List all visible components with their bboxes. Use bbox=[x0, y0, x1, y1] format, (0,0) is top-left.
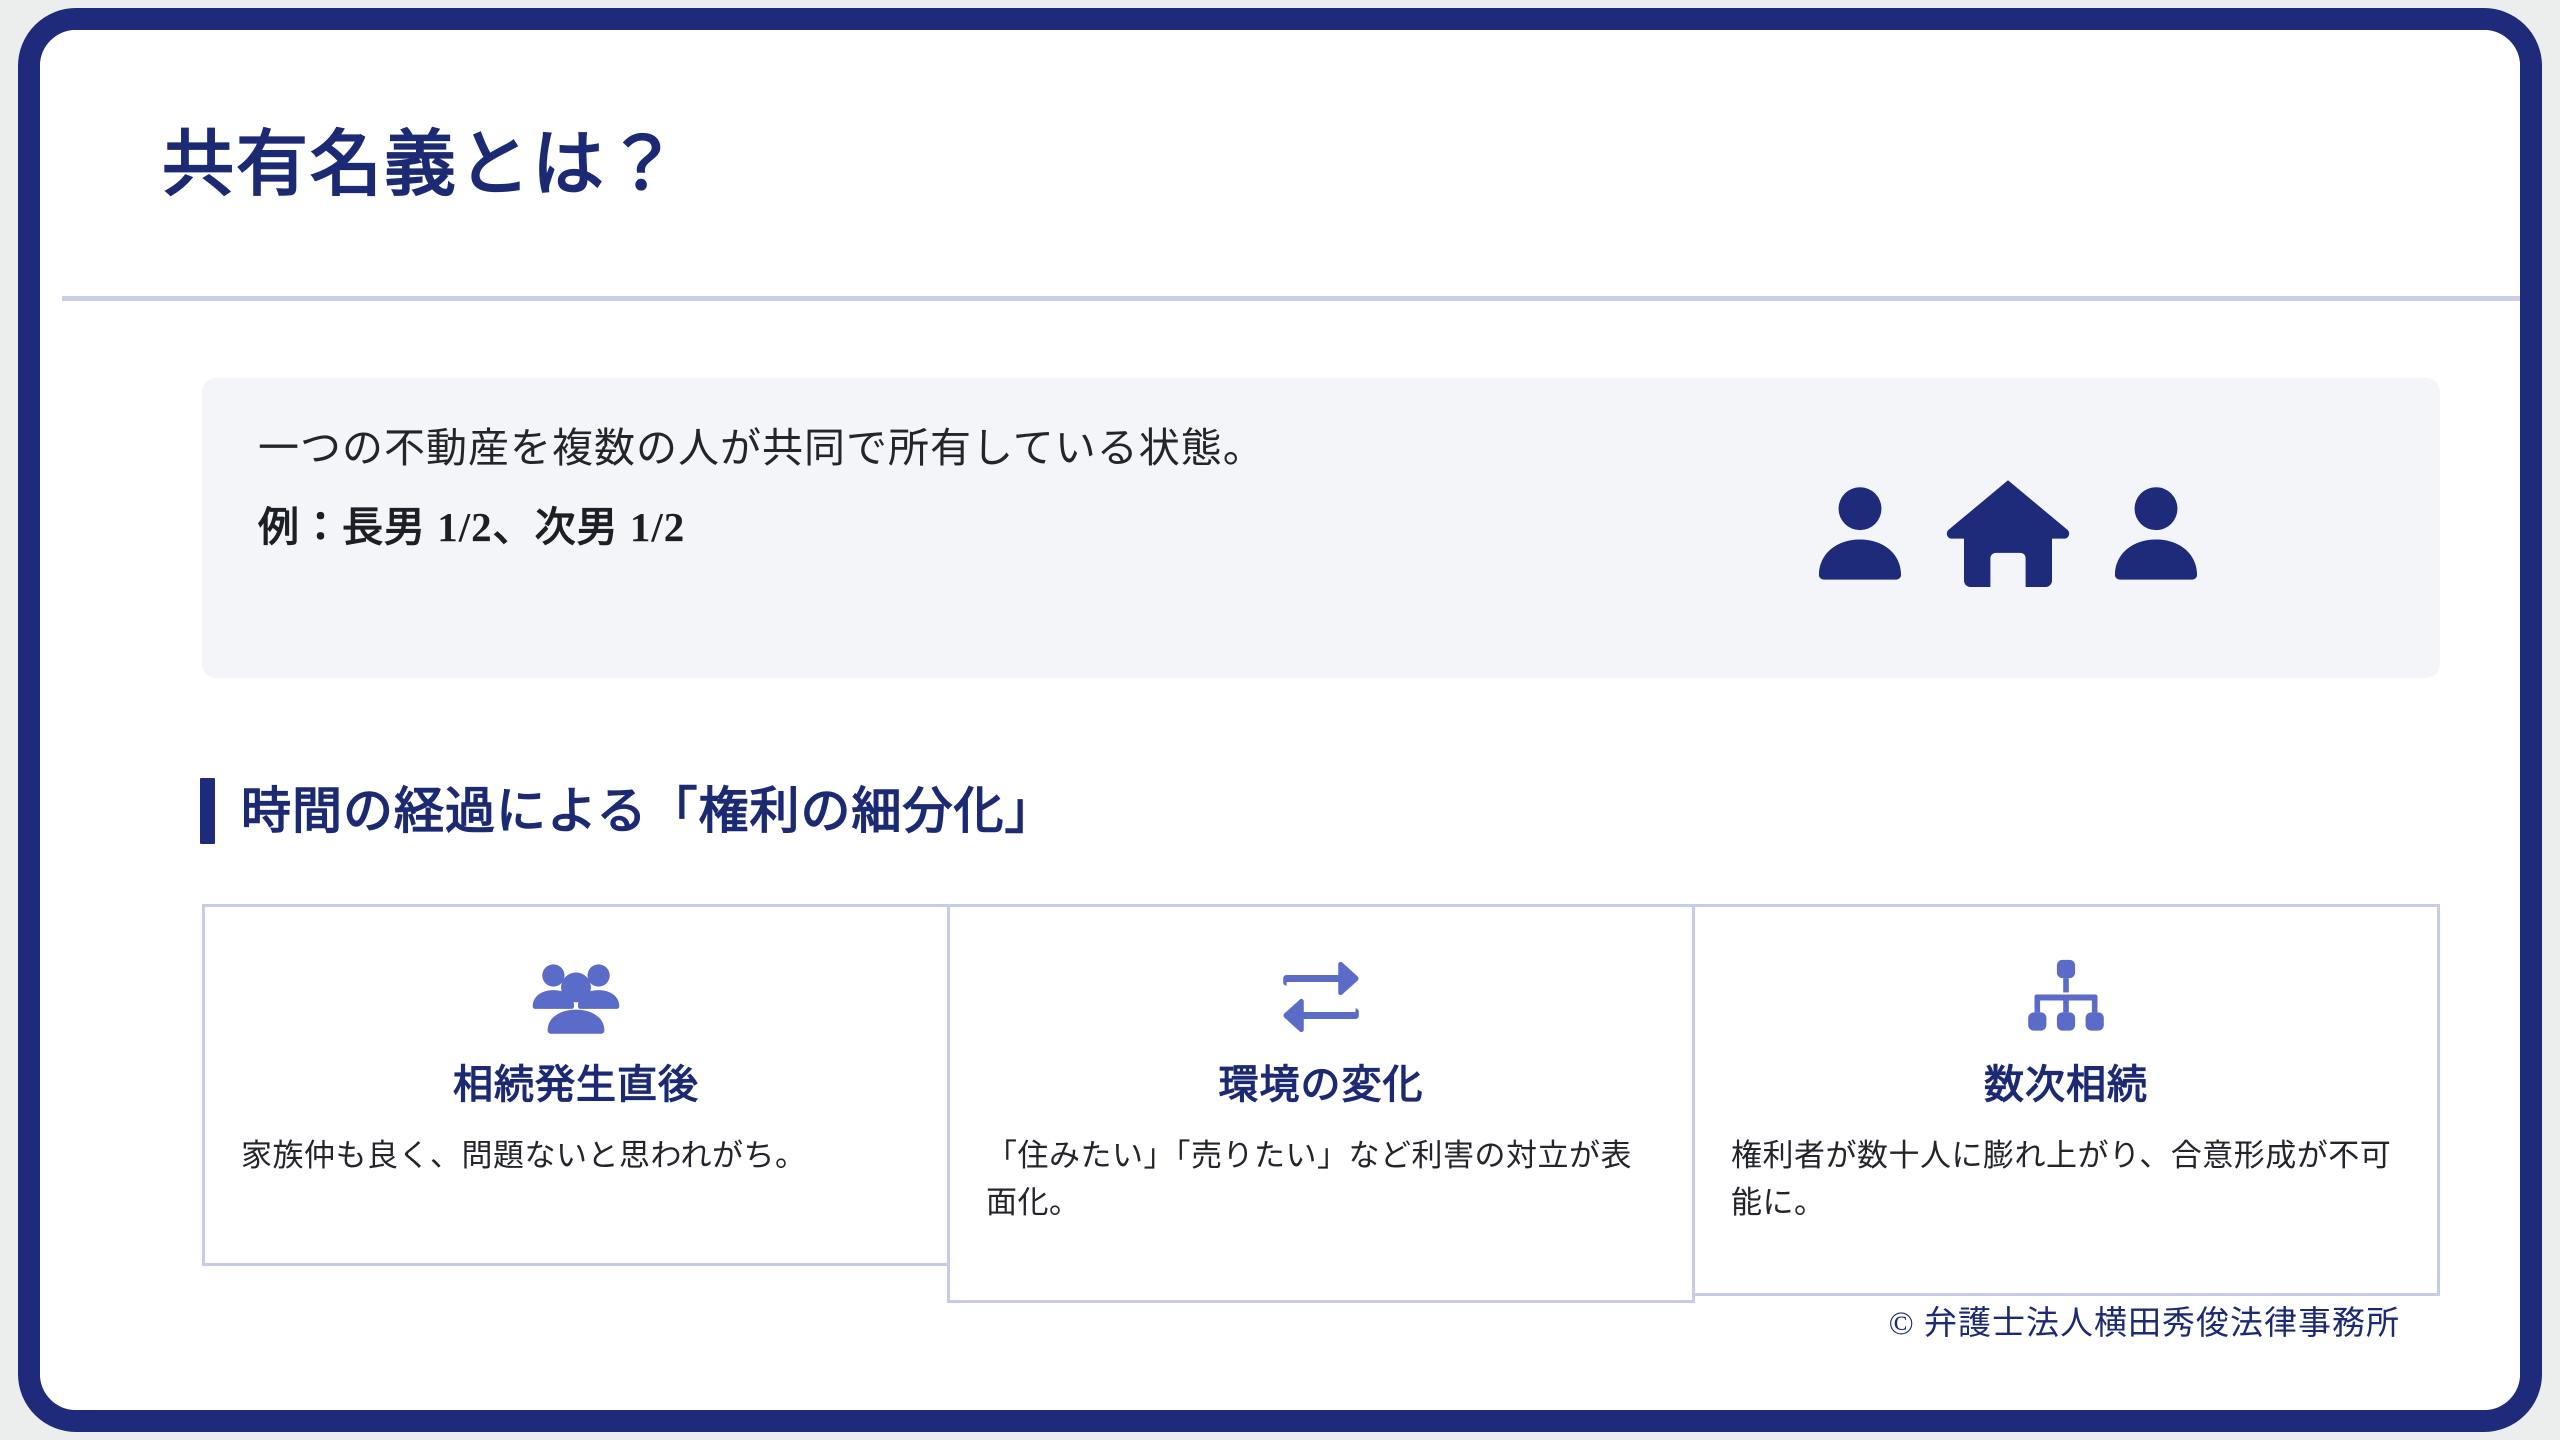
section-heading-text: 時間の経過による「権利の細分化」 bbox=[241, 786, 1056, 836]
definition-text: 一つの不動産を複数の人が共同で所有している状態。 bbox=[258, 416, 1388, 481]
slide-content: 共有名義とは？ 一つの不動産を複数の人が共同で所有している状態。 例：長男 1/… bbox=[40, 30, 2520, 1410]
card-stage-3: 数次相続 権利者が数十人に膨れ上がり、合意形成が不可能に。 bbox=[1692, 904, 2440, 1296]
card-description: 「住みたい」「売りたい」など利害の対立が表面化。 bbox=[986, 1133, 1656, 1226]
sitemap-icon bbox=[1731, 949, 2401, 1045]
page-title-block: 共有名義とは？ bbox=[162, 126, 2402, 205]
page-title: 共有名義とは？ bbox=[162, 126, 2402, 205]
definition-example: 例：長男 1/2、次男 1/2 bbox=[258, 499, 1388, 556]
title-divider bbox=[62, 296, 2520, 301]
card-stage-2: 環境の変化 「住みたい」「売りたい」など利害の対立が表面化。 bbox=[947, 904, 1695, 1303]
timeline-cards: 相続発生直後 家族仲も良く、問題ないと思われがち。 環境の変化 「住みたい」「売… bbox=[202, 904, 2440, 1304]
copyright-footer: © 弁護士法人横田秀俊法律事務所 bbox=[1889, 1296, 2400, 1344]
card-stage-1: 相続発生直後 家族仲も良く、問題ないと思われがち。 bbox=[202, 904, 950, 1266]
exchange-arrows-icon bbox=[986, 949, 1656, 1045]
house-icon bbox=[1942, 466, 2074, 598]
users-group-icon bbox=[241, 949, 911, 1045]
person-icon bbox=[1804, 476, 1916, 588]
slide-frame: 共有名義とは？ 一つの不動産を複数の人が共同で所有している状態。 例：長男 1/… bbox=[18, 8, 2542, 1432]
card-description: 権利者が数十人に膨れ上がり、合意形成が不可能に。 bbox=[1731, 1133, 2401, 1226]
definition-box: 一つの不動産を複数の人が共同で所有している状態。 例：長男 1/2、次男 1/2 bbox=[202, 378, 2440, 678]
card-title: 環境の変化 bbox=[986, 1063, 1656, 1107]
card-title: 相続発生直後 bbox=[241, 1063, 911, 1107]
card-title: 数次相続 bbox=[1731, 1063, 2401, 1107]
person-icon bbox=[2100, 476, 2212, 588]
card-description: 家族仲も良く、問題ないと思われがち。 bbox=[241, 1133, 911, 1180]
section-heading: 時間の経過による「権利の細分化」 bbox=[200, 778, 1056, 844]
definition-icon-group bbox=[1804, 466, 2212, 598]
section-accent-bar bbox=[200, 778, 215, 844]
